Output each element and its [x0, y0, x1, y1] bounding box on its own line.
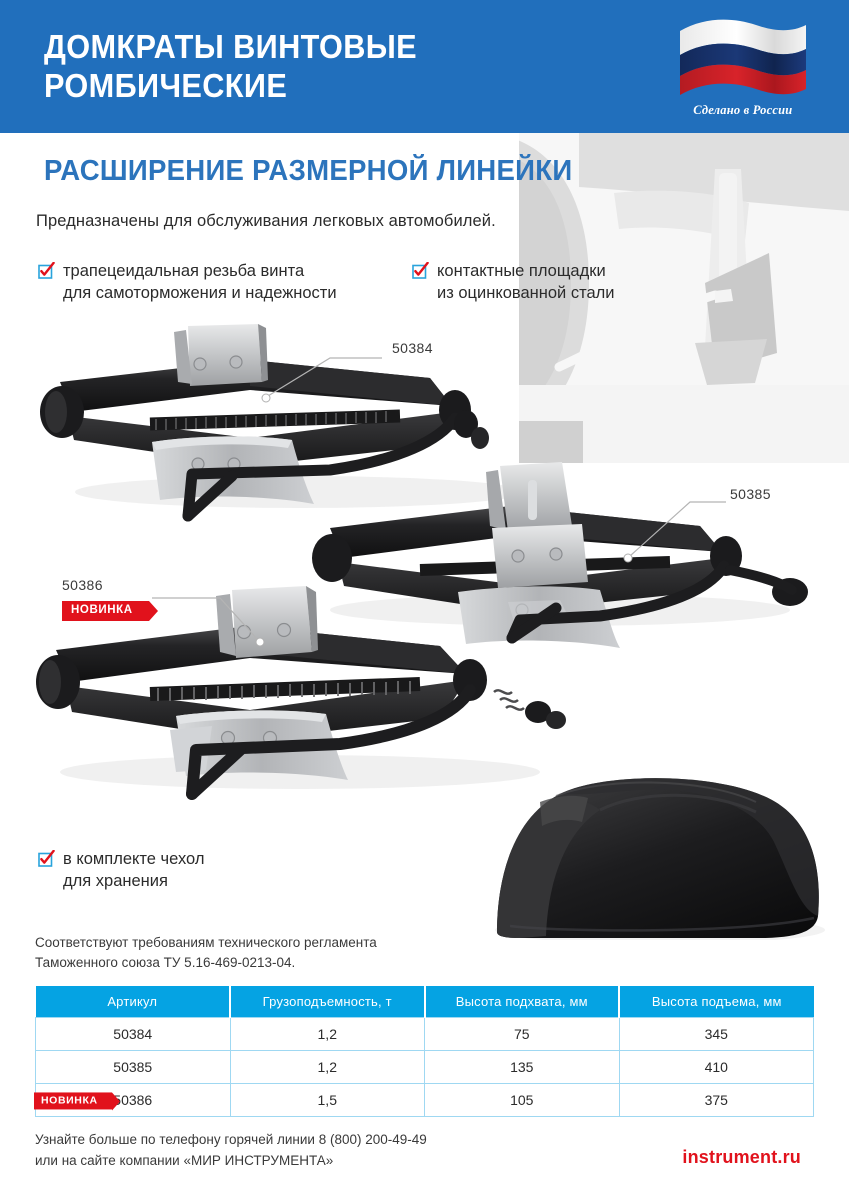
certification-text: Соответствуют требованиям технического р… [35, 933, 377, 974]
feature-label: трапецеидальная резьба винта для самотор… [63, 260, 337, 305]
checkbox-checked-icon [412, 262, 429, 284]
cell-capacity: 1,5 [230, 1084, 425, 1117]
table-row: 50384 1,2 75 345 [36, 1018, 814, 1051]
product-image-50384 [40, 324, 525, 516]
cell-article: 50384 [36, 1018, 231, 1051]
feature-item-screw-thread: трапецеидальная резьба винта для самотор… [38, 260, 337, 305]
cell-pickup-height: 105 [425, 1084, 620, 1117]
table-row: 50385 1,2 135 410 [36, 1051, 814, 1084]
table-row: НОВИНКА 50386 1,5 105 375 [36, 1084, 814, 1117]
callout-label: 50385 [730, 486, 771, 502]
column-header-article: Артикул [36, 986, 231, 1018]
callout-label: 50386 [62, 577, 149, 593]
cell-lift-height: 375 [619, 1084, 814, 1117]
callout-50386: 50386 НОВИНКА [62, 577, 149, 621]
column-header-lift-height: Высота подъема, мм [619, 986, 814, 1018]
page-title: ДОМКРАТЫ ВИНТОВЫЕ РОМБИЧЕСКИЕ [44, 28, 629, 106]
made-in-russia-label: Сделано в России [693, 103, 792, 118]
feature-item-contact-pads: контактные площадки из оцинкованной стал… [412, 260, 615, 305]
cell-pickup-height: 135 [425, 1051, 620, 1084]
product-photo-group [0, 320, 849, 940]
callout-50385: 50385 [730, 486, 771, 502]
novelty-badge: НОВИНКА [62, 601, 149, 621]
column-header-capacity: Грузоподъемность, т [230, 986, 425, 1018]
cell-article: НОВИНКА 50386 [36, 1084, 231, 1117]
datasheet-page: ДОМКРАТЫ ВИНТОВЫЕ РОМБИЧЕСКИЕ [0, 0, 849, 1200]
cell-pickup-height: 75 [425, 1018, 620, 1051]
novelty-badge: НОВИНКА [34, 1092, 112, 1110]
footer-contact-text: Узнайте больше по телефону горячей линии… [35, 1130, 427, 1172]
callout-label: 50384 [392, 340, 433, 356]
cell-lift-height: 345 [619, 1018, 814, 1051]
intro-text: Предназначены для обслуживания легковых … [36, 212, 496, 231]
specifications-table: Артикул Грузоподъемность, т Высота подхв… [35, 986, 814, 1117]
section-heading: РАСШИРЕНИЕ РАЗМЕРНОЙ ЛИНЕЙКИ [44, 155, 572, 188]
feature-label: контактные площадки из оцинкованной стал… [437, 260, 615, 305]
russian-flag-icon [674, 15, 812, 101]
cell-capacity: 1,2 [230, 1018, 425, 1051]
column-header-pickup-height: Высота подхвата, мм [425, 986, 620, 1018]
company-website-logo[interactable]: instrument.ru [682, 1147, 801, 1168]
cell-lift-height: 410 [619, 1051, 814, 1084]
made-in-russia-badge: Сделано в России [673, 11, 813, 123]
callout-50384: 50384 [392, 340, 433, 356]
cell-article: 50385 [36, 1051, 231, 1084]
novelty-badge-wrap: НОВИНКА [34, 1090, 112, 1109]
cell-capacity: 1,2 [230, 1051, 425, 1084]
product-image-storage-case [495, 778, 825, 940]
novelty-badge-wrap: НОВИНКА [62, 600, 149, 621]
checkbox-checked-icon [38, 262, 55, 284]
page-header: ДОМКРАТЫ ВИНТОВЫЕ РОМБИЧЕСКИЕ [0, 0, 849, 133]
table-header-row: Артикул Грузоподъемность, т Высота подхв… [36, 986, 814, 1018]
